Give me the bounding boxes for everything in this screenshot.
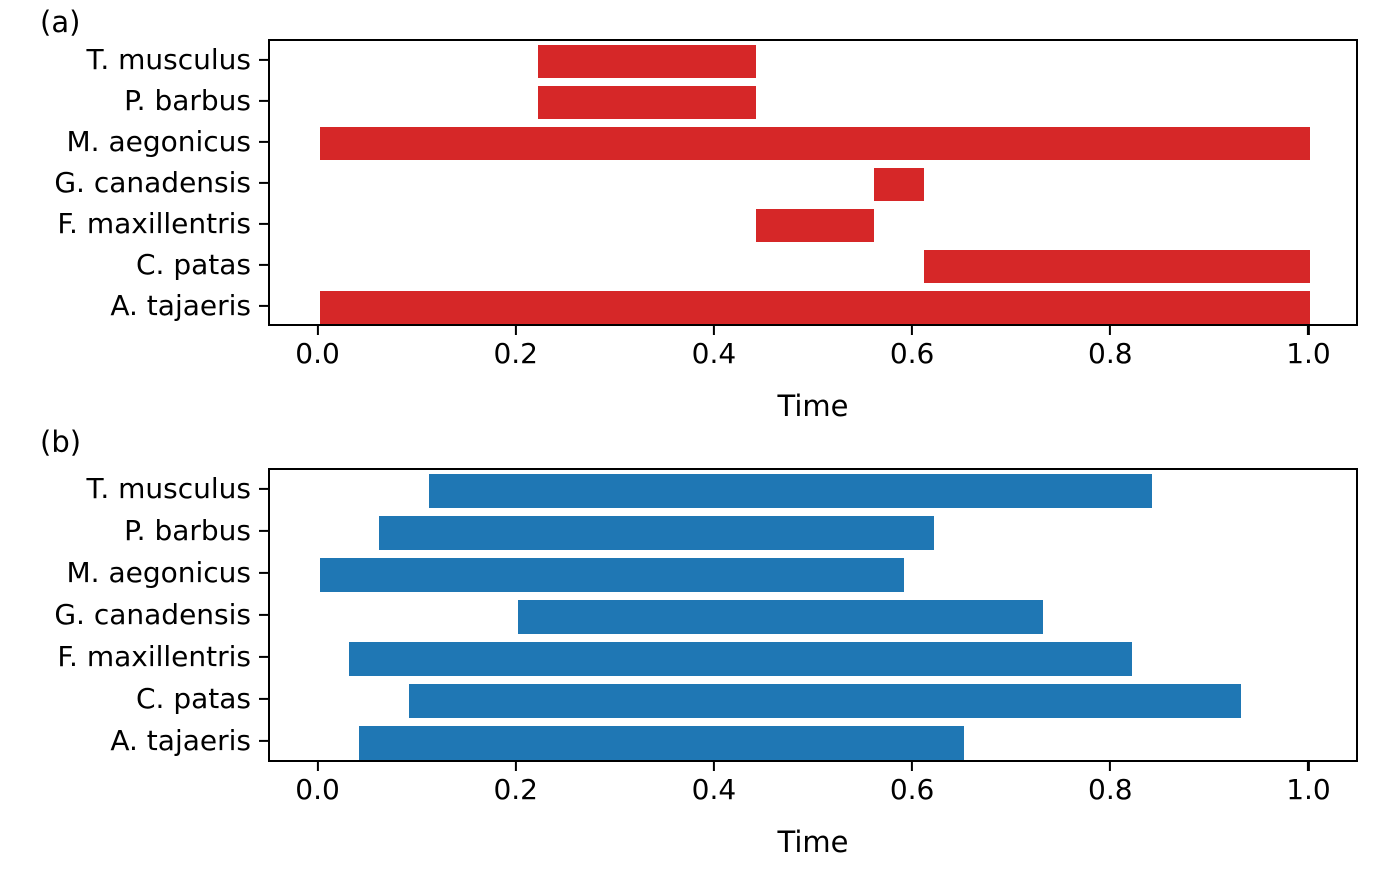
bar-a-5 [924, 250, 1310, 284]
bar-b-4 [349, 642, 1132, 676]
y-tick-mark-a-1 [259, 99, 268, 101]
y-tick-mark-a-0 [259, 58, 268, 60]
y-tick-mark-a-3 [259, 181, 268, 183]
x-tick-mark-a-1 [515, 326, 517, 335]
x-tick-mark-a-3 [911, 326, 913, 335]
bar-b-5 [409, 684, 1241, 718]
y-tick-label-a-1: P. barbus [0, 87, 251, 115]
x-tick-mark-b-3 [911, 762, 913, 771]
y-tick-label-a-6: A. tajaeris [0, 292, 251, 320]
y-tick-label-a-2: M. aegonicus [0, 128, 251, 156]
y-tick-label-b-1: P. barbus [0, 517, 251, 545]
bar-a-4 [756, 209, 875, 243]
panel-a-label: (a) [40, 5, 80, 39]
x-tick-label-b-5: 1.0 [1286, 776, 1331, 804]
x-tick-mark-b-1 [515, 762, 517, 771]
y-tick-label-b-6: A. tajaeris [0, 727, 251, 755]
x-axis-title-a: Time [778, 392, 849, 421]
y-tick-mark-b-2 [259, 572, 268, 574]
y-tick-mark-b-4 [259, 656, 268, 658]
x-tick-label-b-4: 0.8 [1088, 776, 1133, 804]
y-tick-mark-b-6 [259, 740, 268, 742]
x-tick-mark-a-5 [1307, 326, 1309, 335]
x-tick-mark-a-4 [1109, 326, 1111, 335]
bar-b-1 [379, 516, 934, 550]
x-tick-mark-b-5 [1307, 762, 1309, 771]
x-tick-label-b-0: 0.0 [295, 776, 340, 804]
plot-area-a [268, 39, 1358, 326]
x-tick-label-a-4: 0.8 [1088, 340, 1133, 368]
bar-a-2 [320, 127, 1311, 161]
bar-a-6 [320, 291, 1311, 324]
plot-area-b [268, 468, 1358, 762]
y-tick-mark-b-1 [259, 530, 268, 532]
y-tick-label-a-0: T. musculus [0, 46, 251, 74]
x-tick-label-a-2: 0.4 [692, 340, 737, 368]
y-tick-mark-b-3 [259, 614, 268, 616]
bar-b-2 [320, 558, 905, 592]
x-tick-label-a-5: 1.0 [1286, 340, 1331, 368]
bars-container-b [270, 470, 1356, 760]
y-tick-mark-a-6 [259, 304, 268, 306]
x-tick-mark-b-0 [316, 762, 318, 771]
bars-container-a [270, 41, 1356, 324]
y-tick-label-a-4: F. maxillentris [0, 210, 251, 238]
x-tick-mark-a-0 [316, 326, 318, 335]
bar-b-3 [518, 600, 1043, 634]
y-tick-mark-a-5 [259, 263, 268, 265]
y-tick-label-b-5: C. patas [0, 685, 251, 713]
panel-b-label: (b) [40, 425, 81, 459]
x-tick-mark-b-4 [1109, 762, 1111, 771]
bar-a-0 [538, 45, 756, 79]
y-tick-label-b-4: F. maxillentris [0, 643, 251, 671]
bar-b-6 [359, 726, 963, 760]
y-tick-mark-a-4 [259, 222, 268, 224]
x-tick-mark-a-2 [713, 326, 715, 335]
x-tick-label-b-1: 0.2 [493, 776, 538, 804]
y-tick-label-b-2: M. aegonicus [0, 559, 251, 587]
x-tick-label-a-3: 0.6 [890, 340, 935, 368]
x-tick-label-b-3: 0.6 [890, 776, 935, 804]
figure-canvas: (a) T. musculusP. barbusM. aegonicusG. c… [0, 0, 1389, 889]
y-tick-mark-b-5 [259, 698, 268, 700]
y-tick-label-a-5: C. patas [0, 251, 251, 279]
panel-a: (a) T. musculusP. barbusM. aegonicusG. c… [0, 0, 1389, 420]
x-tick-mark-b-2 [713, 762, 715, 771]
y-tick-mark-a-2 [259, 140, 268, 142]
y-tick-label-b-3: G. canadensis [0, 601, 251, 629]
x-tick-label-a-1: 0.2 [493, 340, 538, 368]
y-tick-label-a-3: G. canadensis [0, 169, 251, 197]
x-tick-label-a-0: 0.0 [295, 340, 340, 368]
panel-b: (b) T. musculusP. barbusM. aegonicusG. c… [0, 420, 1389, 889]
bar-a-3 [874, 168, 924, 202]
x-tick-label-b-2: 0.4 [692, 776, 737, 804]
y-tick-mark-b-0 [259, 488, 268, 490]
y-tick-label-b-0: T. musculus [0, 475, 251, 503]
bar-a-1 [538, 86, 756, 120]
bar-b-0 [429, 474, 1152, 508]
x-axis-title-b: Time [778, 828, 849, 857]
